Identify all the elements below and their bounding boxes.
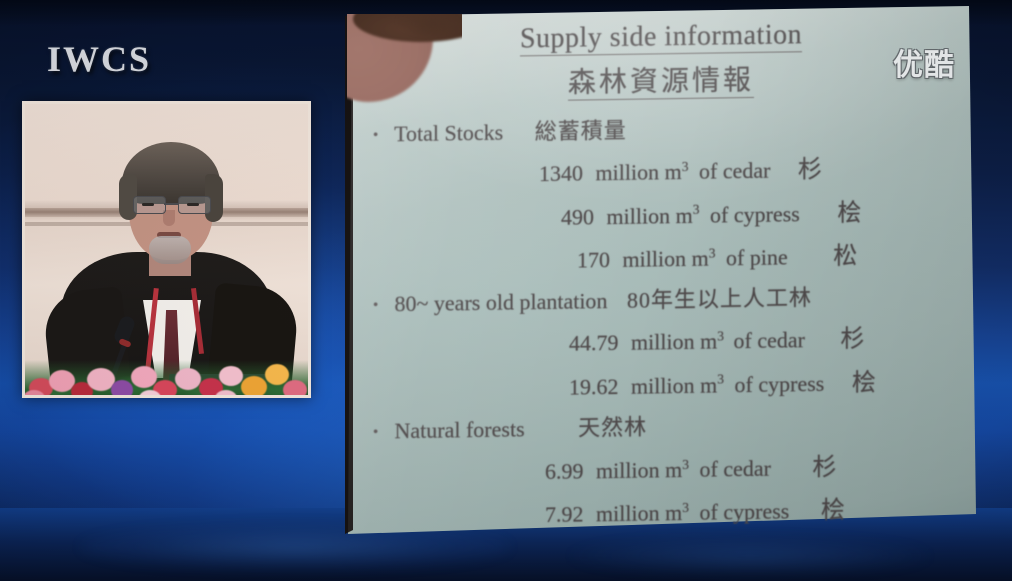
detail-unit-post: of pine	[726, 246, 788, 269]
eyeglasses-icon	[131, 196, 211, 213]
detail-row: 7.92 million m3 of cypress 桧	[373, 497, 971, 530]
video-frame: IWCS	[0, 0, 1012, 581]
detail-unit-pre: million m	[596, 502, 682, 525]
flower-bloom	[219, 366, 243, 386]
detail-value: 7.92	[545, 504, 584, 527]
projection-occlusion-silhouette	[347, 14, 462, 108]
detail-unit-pre: million m	[596, 459, 682, 482]
detail-value: 19.62	[569, 376, 619, 399]
projection-screen: Supply side information 森林資源情報 • Total S…	[345, 6, 977, 534]
detail-exponent: 3	[682, 159, 689, 174]
bullet-row: • 80~ years old plantation 80年生以上人工林	[373, 285, 971, 316]
flower-bloom	[131, 366, 157, 388]
detail-exponent: 3	[709, 245, 716, 260]
detail-kanji: 杉	[798, 158, 822, 182]
detail-unit-post: of cypress	[710, 203, 800, 226]
detail-kanji: 松	[833, 244, 857, 268]
detail-unit-post: of cedar	[734, 329, 805, 352]
detail-unit-post: of cedar	[700, 458, 771, 481]
section-label-en: Natural forests	[395, 416, 525, 443]
youku-watermark: 优酷	[893, 40, 955, 84]
detail-kanji: 桧	[821, 499, 845, 523]
section-label-en: Total Stocks	[394, 120, 503, 147]
flower-bloom	[265, 364, 289, 385]
iwcs-wordmark: IWCS	[47, 38, 151, 80]
floor-reflection-right	[560, 536, 940, 576]
speaker-goatee	[149, 236, 191, 264]
detail-kanji: 桧	[837, 201, 861, 225]
detail-unit-post: of cypress	[700, 501, 790, 524]
bullet-row: • Natural forests 天然林	[373, 411, 971, 442]
detail-unit-post: of cypress	[735, 373, 825, 396]
detail-value: 44.79	[569, 332, 619, 355]
detail-row: 1340 million m3 of cedar 杉	[373, 156, 971, 189]
detail-exponent: 3	[682, 500, 689, 515]
detail-kanji: 杉	[812, 456, 836, 480]
detail-exponent: 3	[693, 202, 700, 217]
detail-exponent: 3	[717, 372, 724, 387]
section-label-jp: 天然林	[578, 414, 647, 440]
detail-kanji: 杉	[840, 328, 864, 352]
section-label-en: 80~ years old plantation	[395, 288, 608, 316]
flower-bloom	[111, 380, 133, 398]
speaker-video-inset	[22, 101, 311, 398]
detail-value: 1340	[539, 163, 583, 186]
flower-bloom	[199, 378, 223, 398]
detail-row: 19.62 million m3 of cypress 桧	[373, 369, 971, 402]
slide-title-en-text: Supply side information	[520, 19, 802, 56]
detail-row: 44.79 million m3 of cedar 杉	[373, 326, 971, 359]
detail-value: 6.99	[545, 460, 584, 483]
eye-left	[142, 203, 154, 206]
eye-right	[187, 203, 199, 206]
detail-row: 170 million m3 of pine 松	[373, 242, 971, 275]
slide-body: • Total Stocks 総蓄積量 1340 million m3 of c…	[373, 115, 971, 530]
detail-unit-pre: million m	[596, 161, 682, 184]
detail-exponent: 3	[682, 457, 689, 472]
section-label-jp: 総蓄積量	[535, 118, 627, 144]
section-label-jp: 80年生以上人工林	[627, 285, 812, 313]
detail-unit-pre: million m	[631, 331, 717, 354]
detail-unit-pre: million m	[607, 204, 693, 227]
detail-row: 490 million m3 of cypress 桧	[373, 199, 971, 232]
bullet-row: • Total Stocks 総蓄積量	[373, 115, 971, 146]
glasses-bridge	[164, 203, 178, 205]
slide-title-jp-text: 森林資源情報	[568, 65, 754, 101]
bullet-icon: •	[373, 299, 389, 314]
detail-unit-pre: million m	[631, 374, 717, 397]
detail-kanji: 桧	[852, 371, 876, 395]
detail-unit-pre: million m	[623, 248, 709, 271]
bullet-icon: •	[373, 129, 389, 144]
flower-bloom	[241, 376, 267, 398]
detail-unit-post: of cedar	[699, 160, 770, 183]
flower-bloom	[283, 380, 307, 398]
podium-flower-arrangement	[22, 360, 311, 398]
detail-value: 170	[577, 249, 610, 271]
detail-row: 6.99 million m3 of cedar 杉	[373, 453, 971, 486]
detail-exponent: 3	[717, 328, 724, 343]
detail-value: 490	[561, 206, 594, 228]
flower-bloom	[153, 380, 177, 398]
flower-bloom	[175, 368, 201, 390]
bullet-icon: •	[373, 425, 389, 440]
